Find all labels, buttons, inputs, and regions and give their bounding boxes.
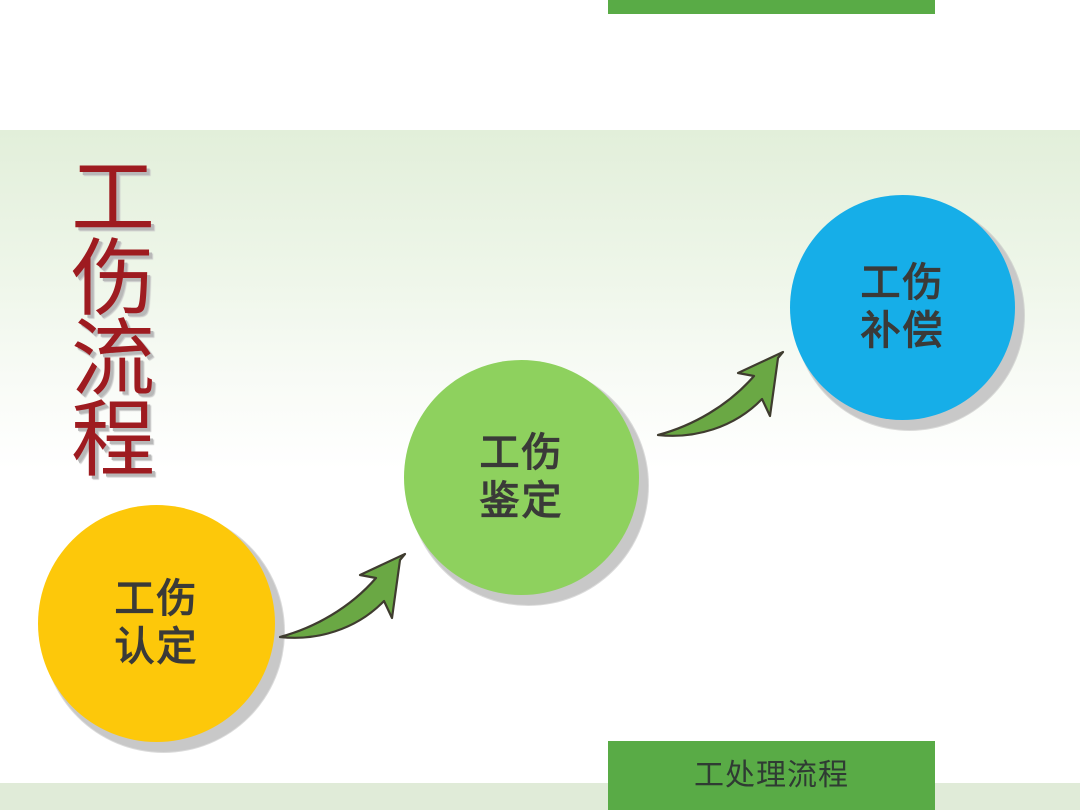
flow-node-compensation[interactable]: 工伤 补偿 [790, 195, 1015, 420]
flow-node-compensation-label: 工伤 补偿 [861, 260, 945, 354]
background-band-top [0, 0, 1080, 130]
slide-canvas: 工 伤 流 程 工伤 认定 工伤 鉴定 工伤 补偿 工处理流程 [0, 0, 1080, 810]
flow-node-appraisal[interactable]: 工伤 鉴定 [404, 360, 639, 595]
top-green-accent-bar [608, 0, 935, 14]
flow-node-appraisal-label: 工伤 鉴定 [480, 430, 564, 524]
title-char-4: 程 [71, 400, 155, 481]
flow-node-approval-line1: 工伤 [115, 576, 199, 623]
flow-node-approval-label: 工伤 认定 [115, 576, 199, 670]
flow-node-appraisal-line2: 鉴定 [480, 478, 564, 525]
title-char-1: 工 [71, 158, 155, 239]
title-char-2: 伤 [71, 239, 155, 320]
flow-node-compensation-line1: 工伤 [861, 260, 945, 307]
page-title: 工 伤 流 程 [58, 158, 168, 481]
flow-node-approval-line2: 认定 [115, 624, 199, 671]
footer-banner-label: 工处理流程 [694, 761, 849, 791]
flow-node-compensation-line2: 补偿 [861, 308, 945, 355]
footer-banner: 工处理流程 [608, 741, 935, 810]
flow-node-approval[interactable]: 工伤 认定 [38, 505, 275, 742]
title-char-3: 流 [71, 319, 155, 400]
flow-node-appraisal-line1: 工伤 [480, 430, 564, 477]
